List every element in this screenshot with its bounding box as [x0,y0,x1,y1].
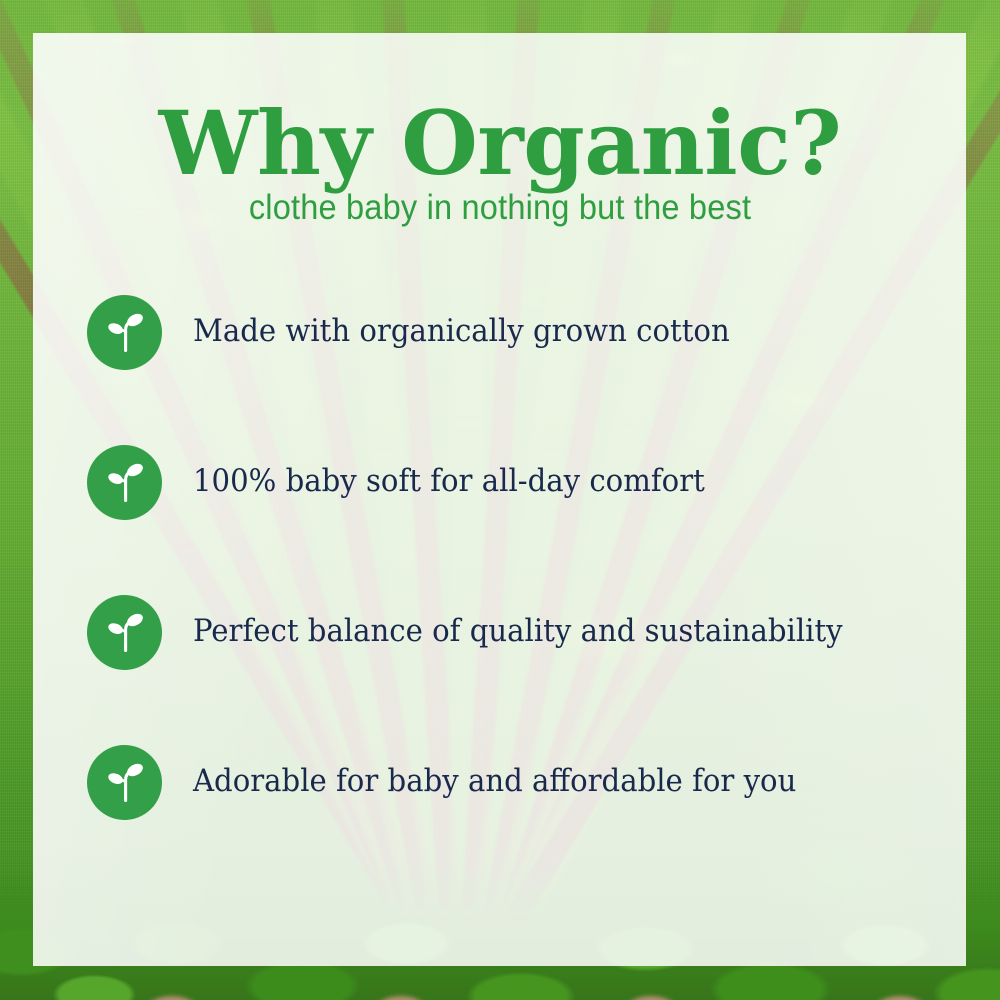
list-item-label: Perfect balance of quality and sustainab… [193,614,843,650]
feature-list: Made with organically grown cotton 100% … [87,257,980,857]
list-item: Made with organically grown cotton [87,257,980,407]
list-item-label: Adorable for baby and affordable for you [193,764,796,800]
list-item: 100% baby soft for all-day comfort [87,407,980,557]
why-organic-poster: Why Organic? clothe baby in nothing but … [0,0,1000,1000]
seedling-sprout-icon [87,295,162,370]
page-subtitle: clothe baby in nothing but the best [35,187,965,229]
list-item: Perfect balance of quality and sustainab… [87,557,980,707]
list-item: Adorable for baby and affordable for you [87,707,980,857]
seedling-sprout-icon [87,445,162,520]
list-item-label: 100% baby soft for all-day comfort [193,464,705,500]
page-title: Why Organic? [0,96,1000,191]
list-item-label: Made with organically grown cotton [193,314,730,350]
seedling-sprout-icon [87,745,162,820]
seedling-sprout-icon [87,595,162,670]
